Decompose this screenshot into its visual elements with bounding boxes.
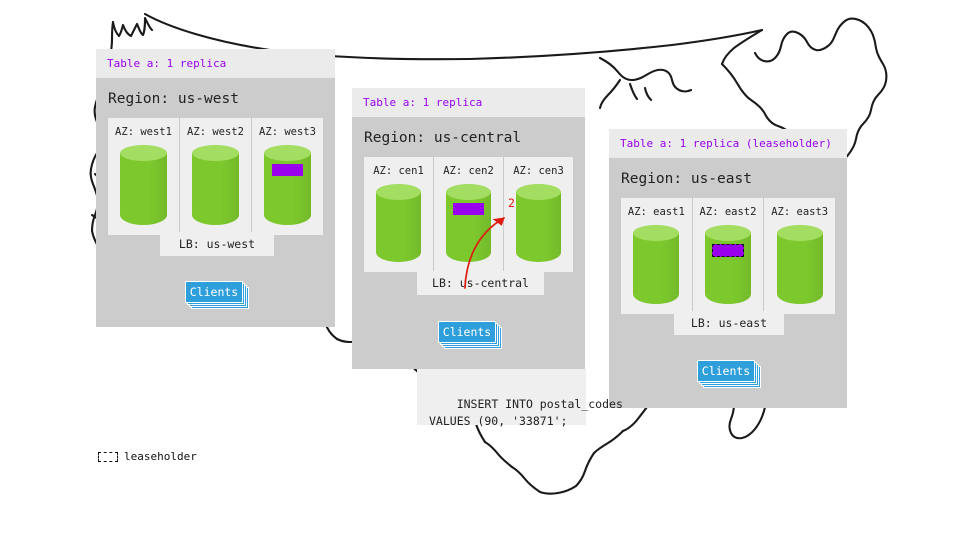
clients-stack-us-east[interactable]: Clients — [697, 360, 763, 390]
az-card-cen1[interactable]: AZ: cen1 — [364, 157, 434, 272]
arrow-step-label-2: 2 — [508, 196, 515, 210]
az-label-east3: AZ: east3 — [764, 206, 835, 218]
region-header-label-us-east: Table a: 1 replica (leaseholder) — [609, 129, 847, 158]
diagram-canvas: Table a: 1 replica Region: us-west AZ: w… — [0, 0, 960, 540]
clients-stack-us-central[interactable]: Clients — [438, 321, 504, 351]
db-node-cylinder-east2[interactable] — [705, 225, 751, 304]
replica-marker-west3 — [272, 164, 303, 176]
db-node-cylinder-west3[interactable] — [264, 145, 311, 225]
az-row-us-west: AZ: west1 AZ: west2 — [108, 118, 323, 235]
az-label-east1: AZ: east1 — [621, 206, 692, 218]
az-card-cen3[interactable]: AZ: cen3 — [504, 157, 573, 272]
region-panel-us-east: Table a: 1 replica (leaseholder) Region:… — [609, 129, 847, 411]
clients-label-us-east: Clients — [702, 364, 750, 378]
db-node-cylinder-west2[interactable] — [192, 145, 239, 225]
db-node-cylinder-west1[interactable] — [120, 145, 167, 225]
az-card-west3[interactable]: AZ: west3 — [252, 118, 323, 235]
load-balancer-label-us-west: LB: us-west — [179, 237, 255, 251]
load-balancer-us-central[interactable]: LB: us-central — [417, 271, 544, 295]
az-row-us-east: AZ: east1 AZ: east2 — [621, 198, 835, 314]
region-header-label-us-west: Table a: 1 replica — [96, 49, 335, 78]
az-card-west1[interactable]: AZ: west1 — [108, 118, 180, 235]
az-card-cen2[interactable]: AZ: cen2 — [434, 157, 504, 272]
region-title-us-east: Region: us-east — [609, 158, 847, 198]
az-label-cen3: AZ: cen3 — [504, 165, 573, 177]
load-balancer-us-west[interactable]: LB: us-west — [160, 232, 274, 256]
az-card-east2[interactable]: AZ: east2 — [693, 198, 765, 314]
region-panel-us-central: Table a: 1 replica Region: us-central AZ… — [352, 88, 585, 372]
az-label-cen1: AZ: cen1 — [364, 165, 433, 177]
region-header-label-us-central: Table a: 1 replica — [352, 88, 585, 117]
db-node-cylinder-east1[interactable] — [633, 225, 679, 304]
load-balancer-label-us-east: LB: us-east — [691, 316, 767, 330]
replica-marker-east2-leaseholder — [712, 244, 744, 257]
az-card-east3[interactable]: AZ: east3 — [764, 198, 835, 314]
az-row-us-central: AZ: cen1 AZ: cen2 — [364, 157, 573, 272]
db-node-cylinder-east3[interactable] — [777, 225, 823, 304]
legend: leaseholder — [98, 450, 197, 463]
load-balancer-label-us-central: LB: us-central — [432, 276, 529, 290]
region-panel-us-west: Table a: 1 replica Region: us-west AZ: w… — [96, 49, 335, 330]
az-label-east2: AZ: east2 — [693, 206, 764, 218]
sql-statement-box: INSERT INTO postal_codes VALUES (90, '33… — [417, 369, 586, 425]
sql-statement-text: INSERT INTO postal_codes VALUES (90, '33… — [429, 397, 623, 427]
clients-label-us-west: Clients — [190, 285, 238, 299]
dashed-rect-icon — [98, 452, 118, 462]
clients-button-us-east[interactable]: Clients — [697, 360, 755, 382]
az-label-west3: AZ: west3 — [252, 126, 323, 138]
az-label-cen2: AZ: cen2 — [434, 165, 503, 177]
az-label-west2: AZ: west2 — [180, 126, 251, 138]
replica-marker-cen2 — [453, 203, 484, 215]
az-card-east1[interactable]: AZ: east1 — [621, 198, 693, 314]
load-balancer-us-east[interactable]: LB: us-east — [674, 311, 784, 335]
clients-stack-us-west[interactable]: Clients — [185, 281, 251, 311]
region-title-us-central: Region: us-central — [352, 117, 585, 157]
clients-button-us-central[interactable]: Clients — [438, 321, 496, 343]
db-node-cylinder-cen3[interactable] — [516, 184, 561, 262]
az-card-west2[interactable]: AZ: west2 — [180, 118, 252, 235]
db-node-cylinder-cen2[interactable] — [446, 184, 491, 262]
clients-button-us-west[interactable]: Clients — [185, 281, 243, 303]
legend-label: leaseholder — [124, 450, 197, 463]
db-node-cylinder-cen1[interactable] — [376, 184, 421, 262]
region-title-us-west: Region: us-west — [96, 78, 335, 118]
az-label-west1: AZ: west1 — [108, 126, 179, 138]
clients-label-us-central: Clients — [443, 325, 491, 339]
